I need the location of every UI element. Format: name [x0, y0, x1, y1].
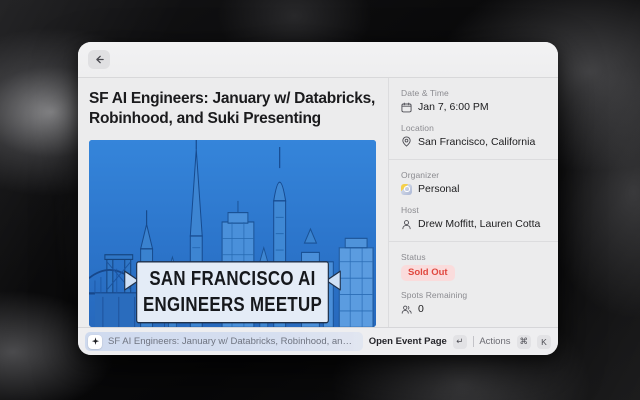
footer-context-chip[interactable]: SF AI Engineers: January w/ Databricks, …	[85, 332, 363, 351]
field-value-row: 0	[401, 303, 546, 316]
field-date-time: Date & Time Jan 7, 6:00 PM	[401, 88, 546, 114]
event-detail-window: SF AI Engineers: January w/ Databricks, …	[78, 42, 558, 355]
window-titlebar	[78, 42, 558, 78]
command-keycap[interactable]: ⌘	[517, 335, 532, 349]
sparkle-icon	[88, 335, 102, 349]
organizer-avatar-icon	[401, 184, 412, 195]
people-icon	[401, 304, 412, 315]
field-spots-remaining: Spots Remaining 0	[401, 290, 546, 316]
host-text: Drew Moffitt, Lauren Cotta	[418, 218, 540, 231]
field-value-row: Sold Out	[401, 265, 546, 280]
event-hero-image: SAN FRANCISCO AI ENGINEERS MEETUP	[89, 140, 376, 327]
banner-ribbon: SAN FRANCISCO AI ENGINEERS MEETUP	[125, 261, 340, 322]
back-button[interactable]	[88, 50, 110, 69]
person-icon	[401, 219, 412, 230]
field-label: Host	[401, 205, 546, 215]
map-pin-icon	[401, 136, 412, 147]
footer-divider	[473, 336, 474, 347]
status-badge: Sold Out	[401, 265, 455, 280]
return-keycap[interactable]: ↵	[453, 335, 467, 349]
field-value-row: Jan 7, 6:00 PM	[401, 101, 546, 114]
organizer-text: Personal	[418, 183, 459, 196]
sidebar-section-status: Status Sold Out Spots Remaining	[389, 241, 558, 326]
field-value-row: Personal	[401, 183, 546, 196]
open-event-page-button[interactable]: Open Event Page	[369, 336, 447, 347]
k-keycap[interactable]: K	[537, 335, 551, 349]
event-main-column: SF AI Engineers: January w/ Databricks, …	[78, 78, 388, 327]
event-title: SF AI Engineers: January w/ Databricks, …	[89, 89, 376, 129]
field-host: Host Drew Moffitt, Lauren Cotta	[401, 205, 546, 231]
field-label: Organizer	[401, 170, 546, 180]
sf-skyline-illustration: SAN FRANCISCO AI ENGINEERS MEETUP	[89, 140, 376, 327]
arrow-left-icon	[94, 54, 105, 65]
window-body: SF AI Engineers: January w/ Databricks, …	[78, 78, 558, 327]
field-location: Location San Francisco, California	[401, 123, 546, 149]
date-time-text: Jan 7, 6:00 PM	[418, 101, 489, 114]
field-organizer: Organizer Personal	[401, 170, 546, 196]
sidebar-section-people: Organizer Personal Host	[389, 159, 558, 241]
field-value-row: San Francisco, California	[401, 136, 546, 149]
field-label: Date & Time	[401, 88, 546, 98]
footer-breadcrumb-text: SF AI Engineers: January w/ Databricks, …	[108, 336, 357, 347]
svg-text:ENGINEERS MEETUP: ENGINEERS MEETUP	[143, 292, 322, 315]
calendar-icon	[401, 102, 412, 113]
field-label: Status	[401, 252, 546, 262]
sidebar-section-when-where: Date & Time Jan 7, 6:00 PM Loca	[389, 88, 558, 159]
field-label: Location	[401, 123, 546, 133]
location-text: San Francisco, California	[418, 136, 535, 149]
command-footer-bar: SF AI Engineers: January w/ Databricks, …	[78, 327, 558, 355]
field-label: Spots Remaining	[401, 290, 546, 300]
event-details-sidebar: Date & Time Jan 7, 6:00 PM Loca	[388, 78, 558, 327]
footer-actions: Open Event Page ↵ Actions ⌘ K	[369, 335, 551, 349]
actions-button[interactable]: Actions	[479, 336, 510, 347]
field-value-row: Drew Moffitt, Lauren Cotta	[401, 218, 546, 231]
svg-text:SAN FRANCISCO AI: SAN FRANCISCO AI	[149, 267, 315, 290]
spots-remaining-text: 0	[418, 303, 424, 316]
field-status: Status Sold Out	[401, 252, 546, 280]
